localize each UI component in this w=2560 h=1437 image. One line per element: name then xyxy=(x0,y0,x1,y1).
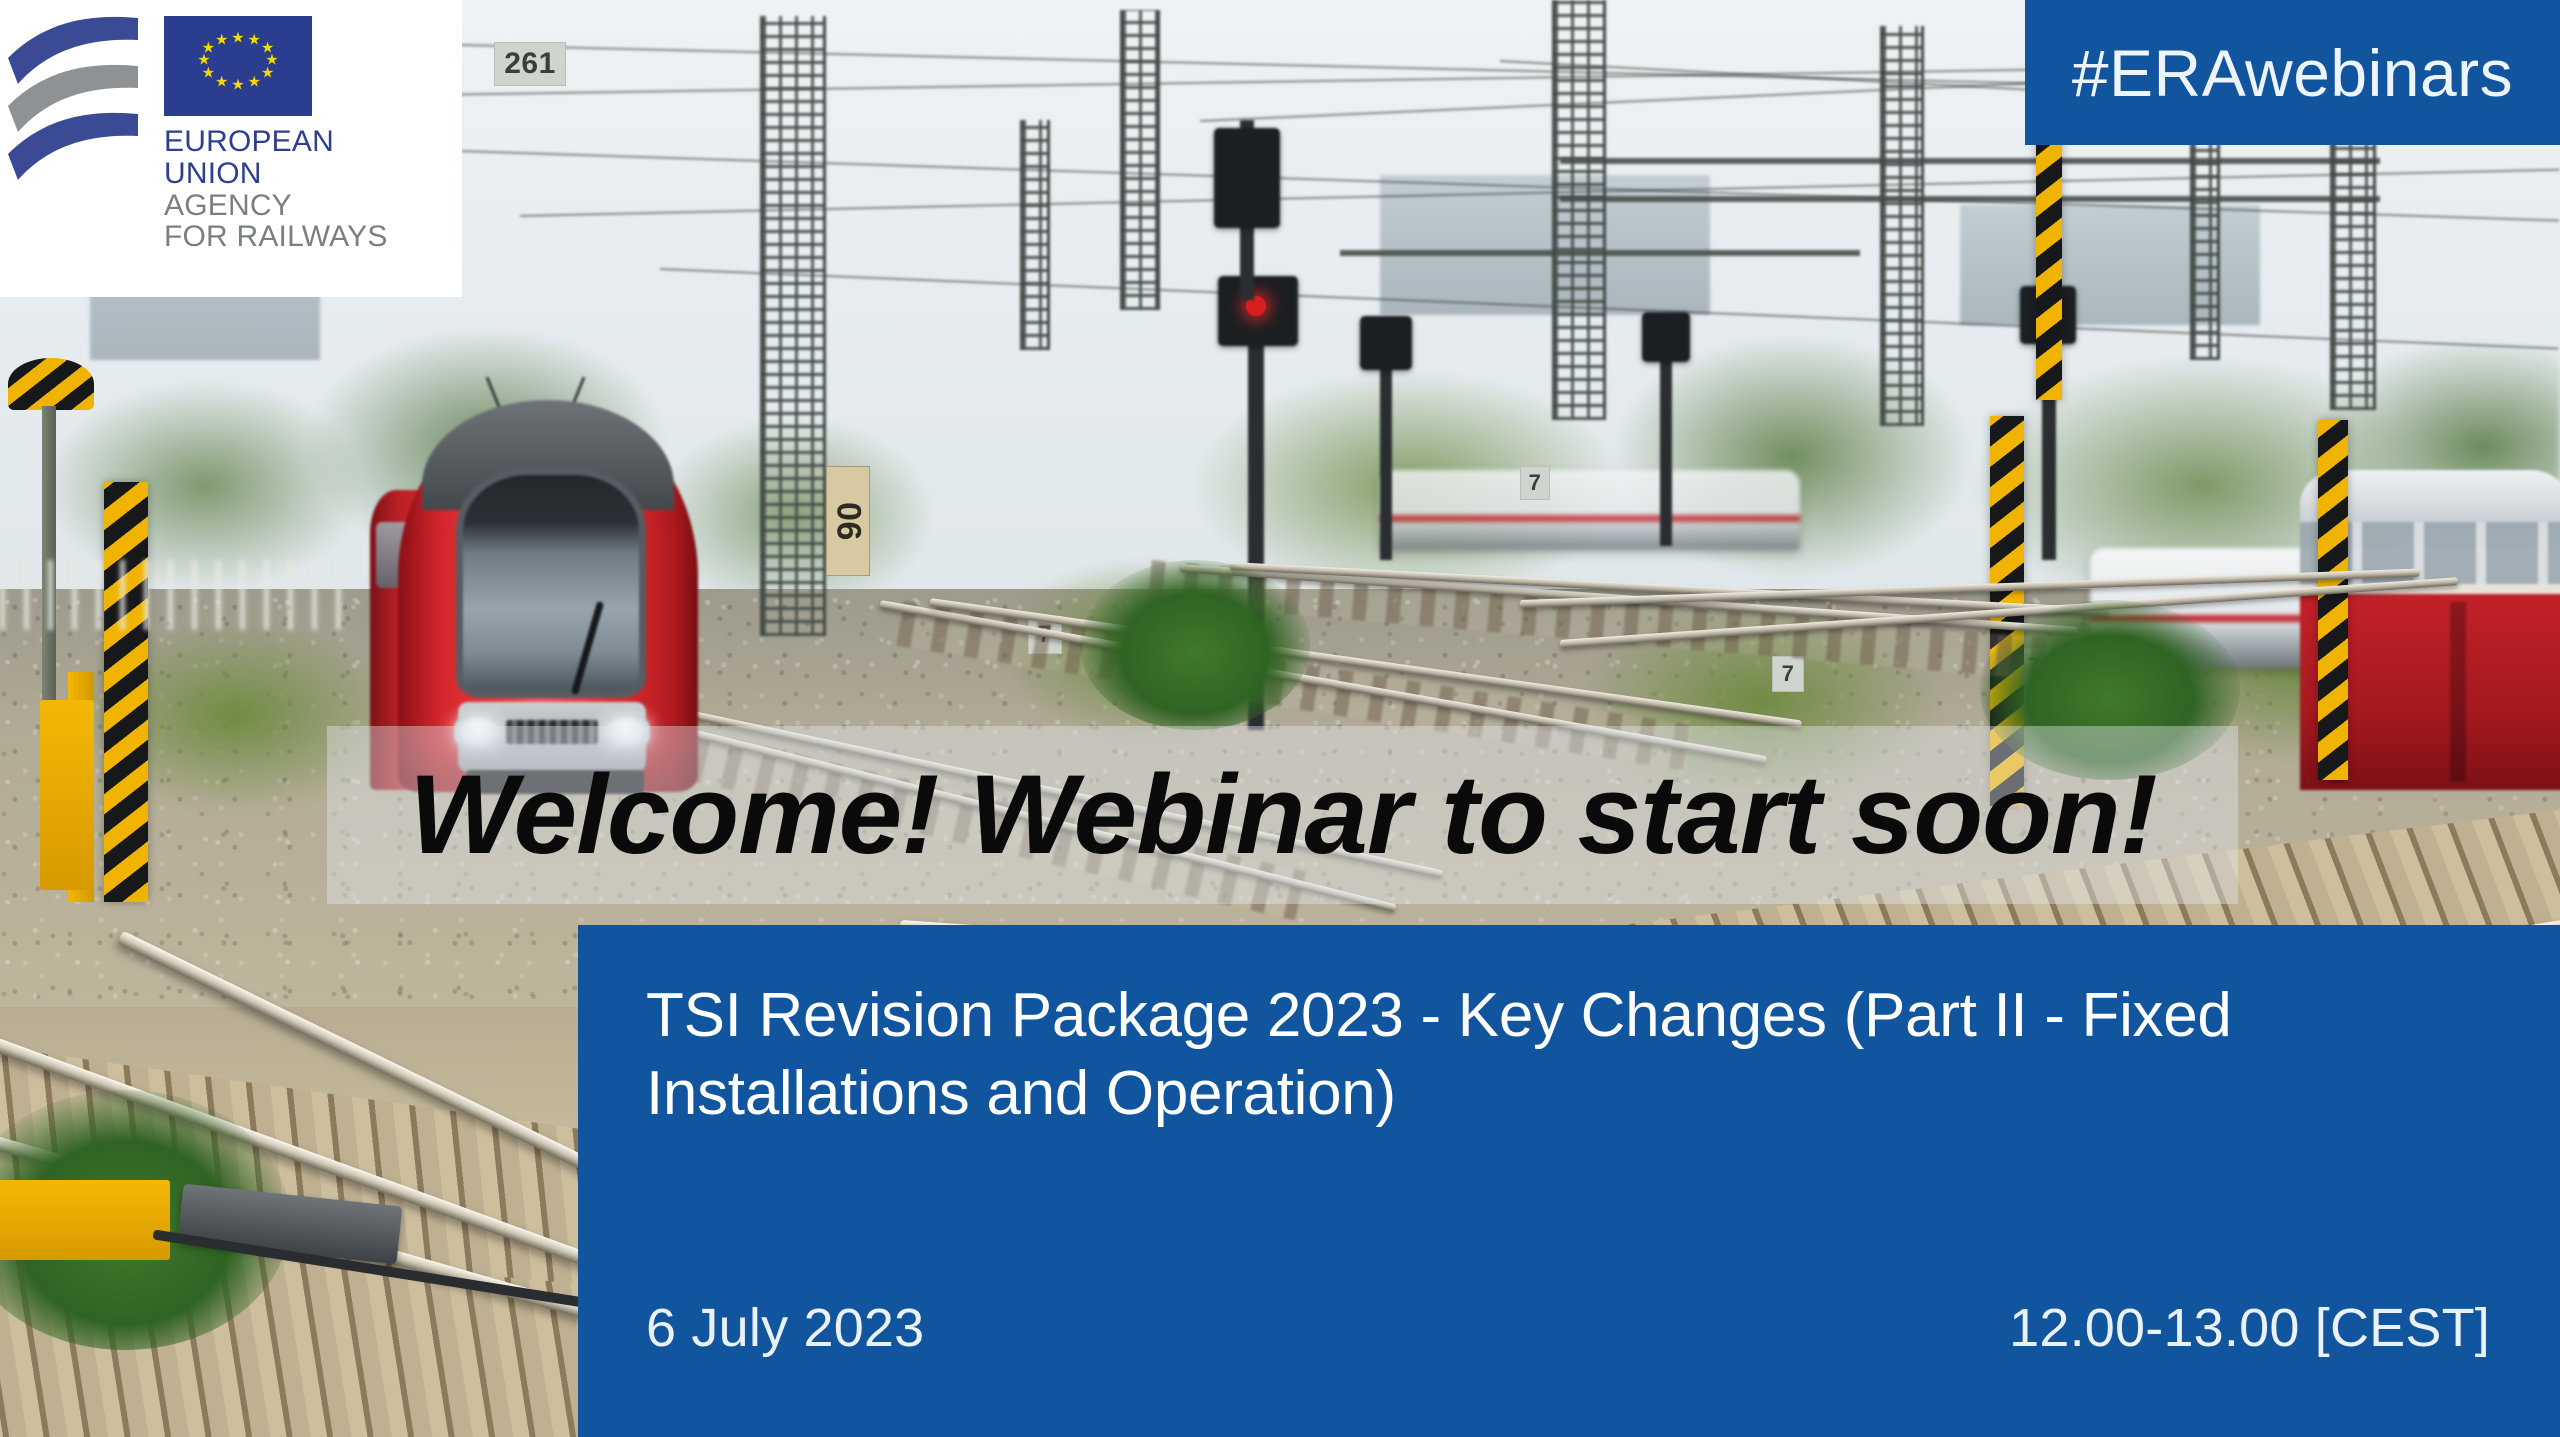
welcome-banner: Welcome! Webinar to start soon! xyxy=(327,726,2238,904)
track-marker-7-b: 7 xyxy=(1520,466,1550,500)
catenary-gantry-1 xyxy=(1560,158,2380,164)
logo-line-european: EUROPEAN xyxy=(164,126,388,158)
track-marker-06: 06 xyxy=(826,466,870,576)
webinar-meta: 6 July 2023 12.00-13.00 [CEST] xyxy=(646,1297,2490,1359)
catenary-gantry-2 xyxy=(1560,196,2380,202)
catenary-mast-3 xyxy=(1552,0,1606,420)
european-union-flag: ★ ★ ★ ★ ★ ★ ★ ★ ★ ★ ★ ★ xyxy=(164,16,312,116)
signal-head-4 xyxy=(1642,312,1690,362)
catenary-mast-4 xyxy=(1880,26,1924,426)
train-windscreen xyxy=(456,468,646,698)
title-panel: TSI Revision Package 2023 - Key Changes … xyxy=(578,925,2560,1437)
webinar-title: TSI Revision Package 2023 - Key Changes … xyxy=(646,977,2446,1132)
coach-door-2 xyxy=(2450,602,2466,782)
hazard-post-right-3 xyxy=(2036,120,2062,400)
hazard-post-left xyxy=(104,482,148,902)
webinar-date: 6 July 2023 xyxy=(646,1297,924,1359)
logo-line-union: UNION xyxy=(164,158,388,190)
welcome-text: Welcome! Webinar to start soon! xyxy=(409,759,2157,871)
eu-agency-for-railways-logo: ★ ★ ★ ★ ★ ★ ★ ★ ★ ★ ★ ★ EUROPEAN UNION A… xyxy=(0,0,462,297)
trackside-yellow-box xyxy=(0,1180,170,1260)
track-marker-7-c: 7 xyxy=(1772,656,1804,692)
webinar-time: 12.00-13.00 [CEST] xyxy=(2009,1297,2490,1359)
trackside-yellow-box-2 xyxy=(40,700,94,890)
midground-bush-1 xyxy=(1080,560,1310,730)
hashtag-badge: #ERAwebinars xyxy=(2025,0,2560,145)
webinar-title-slide: 261 06 7 7 7 7 xyxy=(0,0,2560,1437)
platform-fence xyxy=(0,560,360,630)
signal-head-2 xyxy=(1214,128,1280,228)
logo-text-block: ★ ★ ★ ★ ★ ★ ★ ★ ★ ★ ★ ★ EUROPEAN UNION A… xyxy=(164,14,388,253)
background-train-left xyxy=(1380,470,1800,550)
overhead-line-number-plate: 261 xyxy=(494,42,566,86)
hazard-marker-cap xyxy=(8,358,94,410)
catenary-mast-1 xyxy=(760,16,826,636)
catenary-mast-6 xyxy=(1020,120,1050,350)
era-chevron-mark-icon xyxy=(6,14,146,194)
logo-line-agency: AGENCY xyxy=(164,190,388,222)
catenary-mast-2 xyxy=(1120,10,1160,310)
logo-line-for-railways: FOR RAILWAYS xyxy=(164,221,388,253)
hazard-post-right-2 xyxy=(2318,420,2348,780)
signal-head-3 xyxy=(1360,316,1412,370)
